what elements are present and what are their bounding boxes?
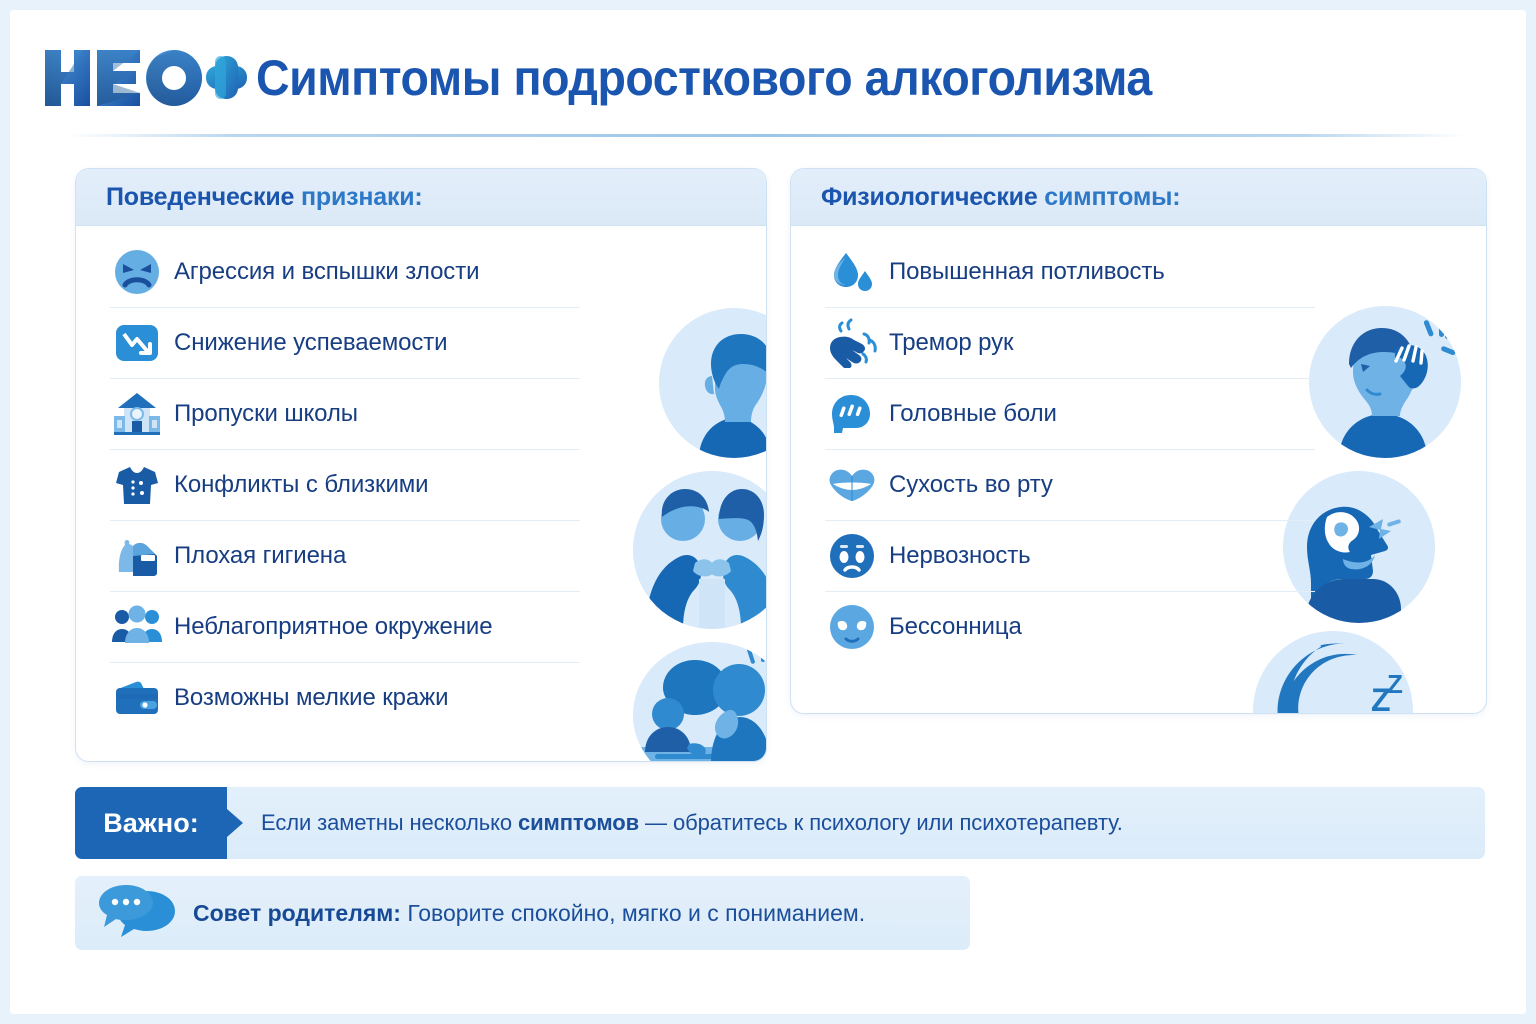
list-item-label: Неблагоприятное окружение [174,613,492,641]
declining-chart-icon [110,316,164,370]
arguing-couple-illustration [633,471,767,629]
list-item[interactable]: Головные боли [825,378,1315,449]
important-text-bold: симптомов [518,810,639,835]
list-item[interactable]: Плохая гигиена [110,520,580,591]
head-pain-icon [825,387,879,441]
list-item[interactable]: Бессонница [825,591,1315,662]
panel-behavioral-title-soft: признаки: [294,183,422,211]
panel-behavioral-title: Поведенческие признаки: [106,183,423,212]
trash-bag-icon [110,529,164,583]
parent-child-talk-icon [633,642,767,762]
list-item-label: Бессонница [889,613,1022,641]
infographic-canvas: Симптомы подросткового алкоголизма Повед… [10,10,1526,1014]
svg-text:z: z [1357,703,1370,714]
advice-text: Совет родителям: Говорите спокойно, мягк… [193,900,865,927]
list-item-label: Снижение успеваемости [174,329,447,357]
list-item-label: Возможны мелкие кражи [174,684,448,712]
panel-behavioral-body: Агрессия и вспышки злости Снижение успев… [76,226,766,733]
lips-icon [825,458,879,512]
speech-bubbles-icon [99,883,177,944]
important-text-after: — обратитесь к психологу или психотерапе… [639,810,1123,835]
list-item-label: Головные боли [889,400,1057,428]
list-item-label: Сухость во рту [889,471,1053,499]
list-item-label: Плохая гигиена [174,542,346,570]
list-item-label: Конфликты с близкими [174,471,428,499]
list-item[interactable]: Повышенная потливость [825,236,1315,307]
important-text: Если заметны несколько симптомов — обрат… [261,810,1123,836]
svg-text:Z: Z [1387,669,1403,699]
headache-person-icon [1309,306,1461,458]
important-banner: Важно: Если заметны несколько симптомов … [75,787,1485,859]
list-item[interactable]: Снижение успеваемости [110,307,580,378]
list-item-label: Повышенная потливость [889,258,1165,286]
list-item-label: Нервозность [889,542,1031,570]
arguing-couple-icon [633,471,767,629]
list-item-label: Пропуски школы [174,400,358,428]
water-drops-icon [825,245,879,299]
tired-face-icon [825,600,879,654]
list-item[interactable]: Конфликты с близкими [110,449,580,520]
teen-portrait-icon [659,308,767,458]
shaking-hand-icon [825,316,879,370]
header-divider [67,134,1467,137]
worried-face-icon [825,529,879,583]
advice-lead: Совет родителям: [193,900,401,926]
list-item[interactable]: Неблагоприятное окружение [110,591,580,662]
list-item[interactable]: Сухость во рту [825,449,1315,520]
panel-physiological-title-bold: Физиологические [821,183,1038,211]
panel-physiological-title-soft: симптомы: [1038,183,1181,211]
headache-person-illustration [1309,306,1461,458]
logo-icon [43,44,248,110]
advice-banner: Совет родителям: Говорите спокойно, мягк… [75,876,970,950]
parent-child-talk-illustration [633,642,767,762]
teen-portrait-illustration [659,308,767,458]
tshirt-icon [110,458,164,512]
important-text-before: Если заметны несколько [261,810,518,835]
group-people-icon [110,600,164,654]
school-building-icon [110,387,164,441]
list-item-label: Тремор рук [889,329,1013,357]
list-item[interactable]: Пропуски школы [110,378,580,449]
important-tag: Важно: [75,787,227,859]
panel-physiological-symptoms: Физиологические симптомы: [790,168,1487,714]
panel-behavioral-title-bold: Поведенческие [106,183,294,211]
panel-physiological-body: z Z Z Повышенная потливость [791,226,1486,662]
page-title: Симптомы подросткового алкоголизма [256,48,1152,108]
header: Симптомы подросткового алкоголизма [10,10,1526,138]
wallet-icon [110,671,164,725]
list-item[interactable]: Нервозность [825,520,1315,591]
neo-plus-logo [43,44,248,110]
advice-body: Говорите спокойно, мягко и с пониманием. [401,900,865,926]
panel-behavioral-header: Поведенческие признаки: [76,169,766,226]
list-item[interactable]: Возможны мелкие кражи [110,662,580,733]
panel-physiological-header: Физиологические симптомы: [791,169,1486,226]
panel-physiological-title: Физиологические симптомы: [821,183,1180,212]
list-item[interactable]: Тремор рук [825,307,1315,378]
list-item-label: Агрессия и вспышки злости [174,258,479,286]
list-item[interactable]: Агрессия и вспышки злости [110,236,580,307]
panel-behavioral-signs: Поведенческие признаки: [75,168,767,762]
angry-face-icon [110,245,164,299]
